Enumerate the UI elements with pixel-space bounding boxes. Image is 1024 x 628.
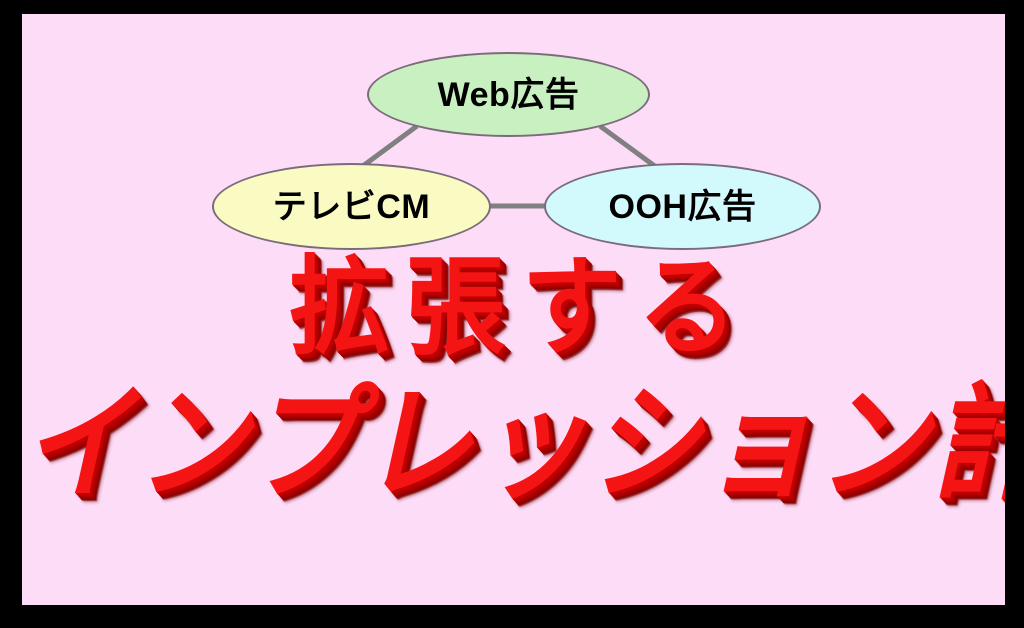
diagram-node-ooh[interactable]: OOH広告 [544, 163, 821, 250]
headline: 拡張する インプレッション計測 [22, 254, 1005, 494]
diagram-node-ooh-label: OOH広告 [609, 190, 757, 224]
diagram-node-tv[interactable]: テレビCM [212, 163, 491, 250]
diagram-node-web[interactable]: Web広告 [367, 52, 650, 137]
slide-frame: Web広告 テレビCM OOH広告 拡張する インプレッション計測 [0, 0, 1024, 628]
diagram-node-web-label: Web広告 [438, 78, 580, 112]
headline-line-1: 拡張する [22, 254, 1005, 362]
headline-line-2: インプレッション計測 [22, 382, 1005, 507]
diagram-node-tv-label: テレビCM [273, 190, 430, 224]
slide-canvas: Web広告 テレビCM OOH広告 拡張する インプレッション計測 [22, 14, 1005, 605]
